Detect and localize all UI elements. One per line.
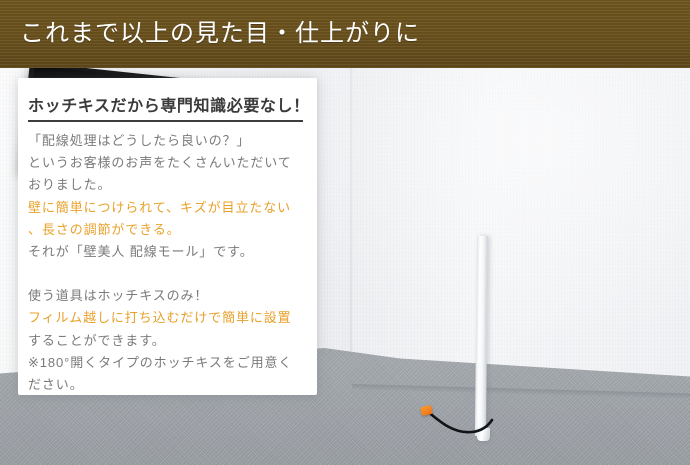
body-line: 使う道具はホッチキスのみ！ — [28, 285, 310, 307]
info-card: ホッチキスだから専門知識必要なし！ 「配線処理はどうしたら良いの？」 というお客… — [18, 78, 317, 395]
body-line: というお客様のお声をたくさんいただいて — [28, 152, 310, 174]
screenshot-root: SONY これまで以上の見た目・仕上がりに ホッチキスだから専門知識必要なし！ … — [0, 0, 690, 465]
card-title: ホッチキスだから専門知識必要なし！ — [28, 92, 308, 116]
body-line: ※180°開くタイプのホッチキスをご用意く — [28, 352, 310, 374]
body-line-highlight: 、長さの調節ができる。 — [28, 219, 310, 241]
body-line-highlight: 壁に簡単につけられて、キズが目立たない — [28, 197, 310, 219]
body-line: 「配線処理はどうしたら良いの？」 — [28, 130, 310, 152]
body-line: することができます。 — [28, 330, 310, 352]
body-line: それが「壁美人 配線モール」です。 — [28, 241, 310, 263]
header-title: これまで以上の見た目・仕上がりに — [20, 16, 420, 52]
header-bar: これまで以上の見た目・仕上がりに — [0, 0, 690, 68]
card-title-divider — [28, 120, 303, 122]
body-line: ださい。 — [28, 374, 310, 396]
card-body-text: 「配線処理はどうしたら良いの？」 というお客様のお声をたくさんいただいて おりま… — [28, 130, 310, 396]
body-blank-line — [28, 263, 310, 285]
body-line-highlight: フィルム越しに打ち込むだけで簡単に設置 — [28, 307, 310, 329]
body-line: おりました。 — [28, 174, 310, 196]
floor-cable — [390, 388, 500, 448]
